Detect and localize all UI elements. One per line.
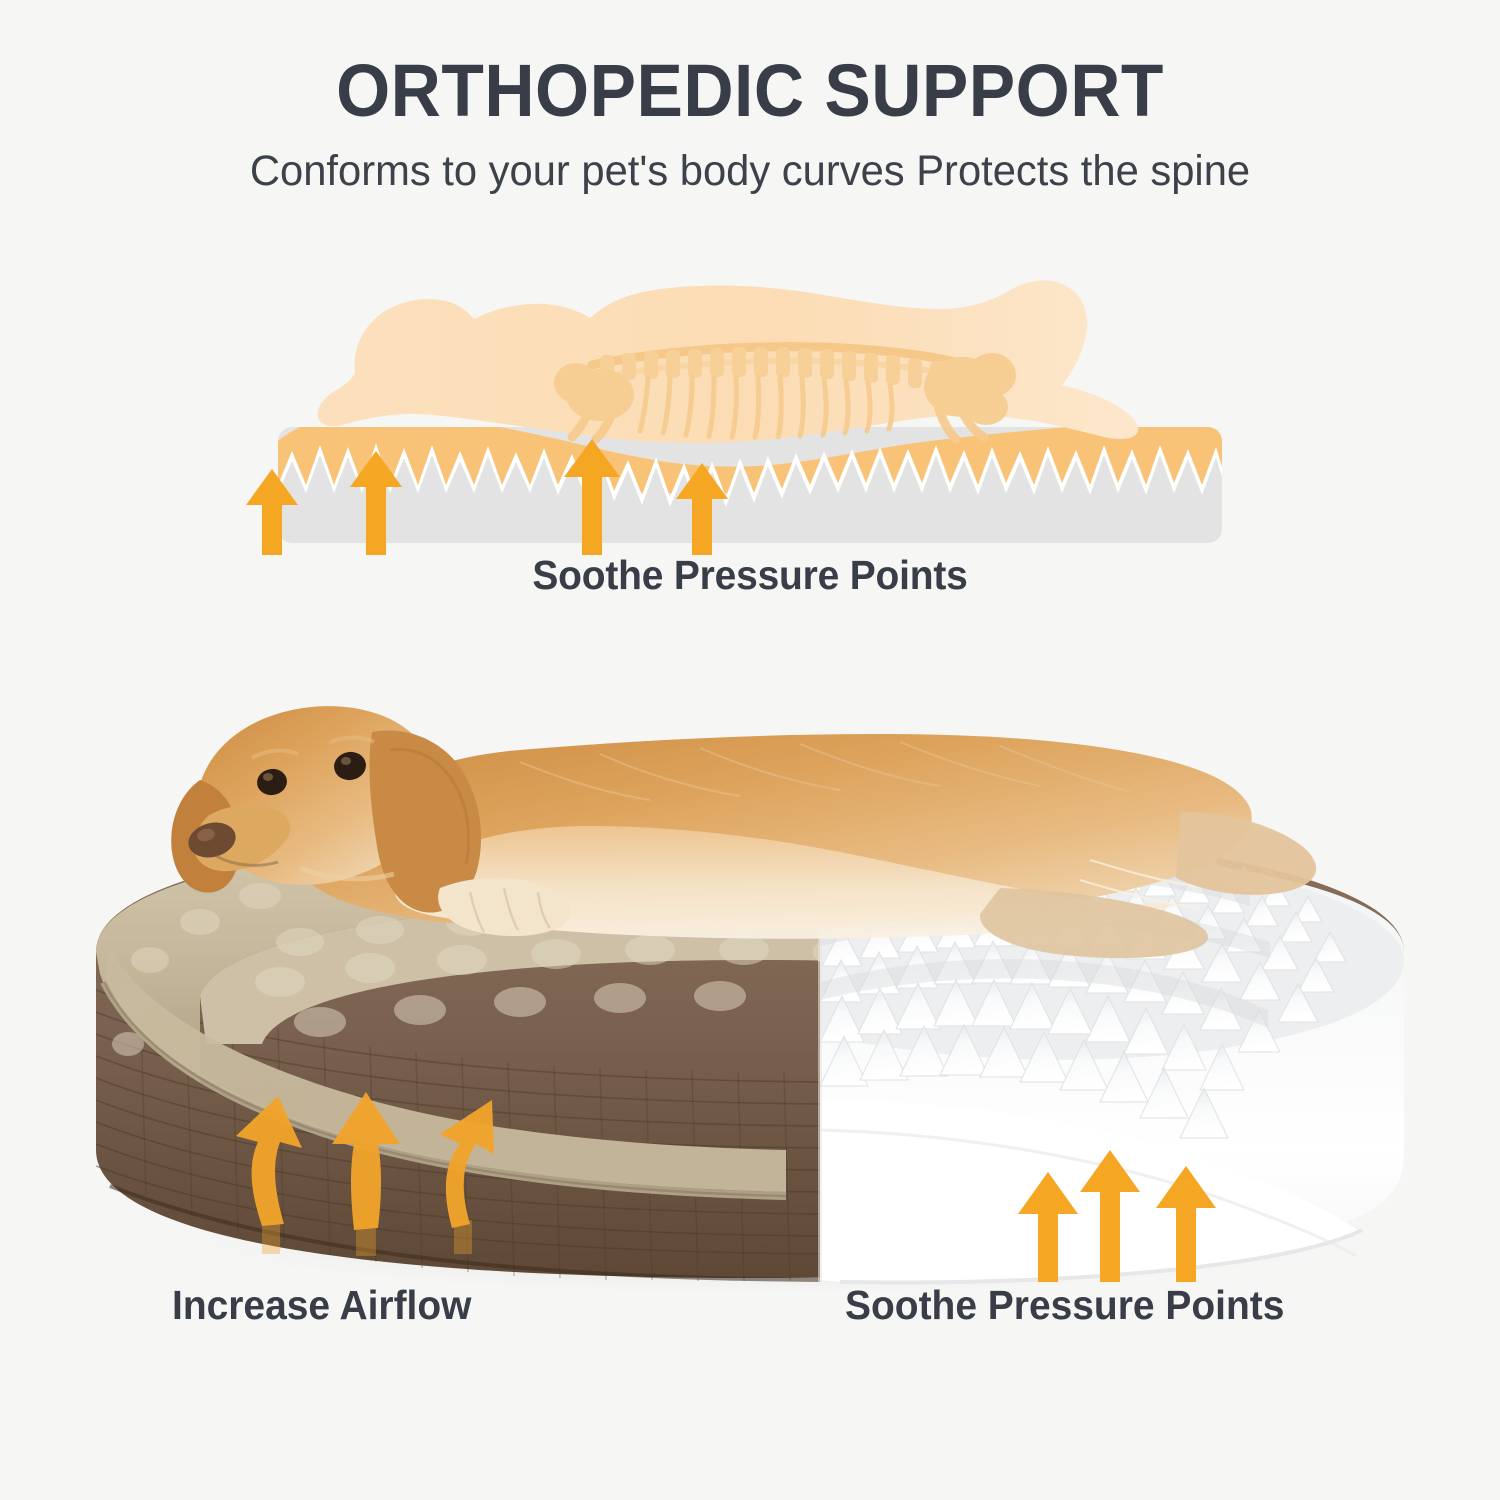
page-title: ORTHOPEDIC SUPPORT: [45, 0, 1455, 130]
bottom-labels: Increase Airflow Soothe Pressure Points: [0, 1282, 1500, 1352]
header: ORTHOPEDIC SUPPORT Conforms to your pet'…: [0, 0, 1500, 196]
infographic-page: ORTHOPEDIC SUPPORT Conforms to your pet'…: [0, 0, 1500, 1500]
diagram-caption: Soothe Pressure Points: [38, 552, 1463, 599]
product-photo: [0, 630, 1500, 1330]
page-subtitle: Conforms to your pet's body curves Prote…: [23, 130, 1478, 196]
dog-head: [171, 706, 481, 912]
dog-silhouette-with-skeleton: [318, 280, 1139, 443]
airflow-label: Increase Airflow: [172, 1282, 471, 1329]
pressure-label: Soothe Pressure Points: [845, 1282, 1284, 1329]
